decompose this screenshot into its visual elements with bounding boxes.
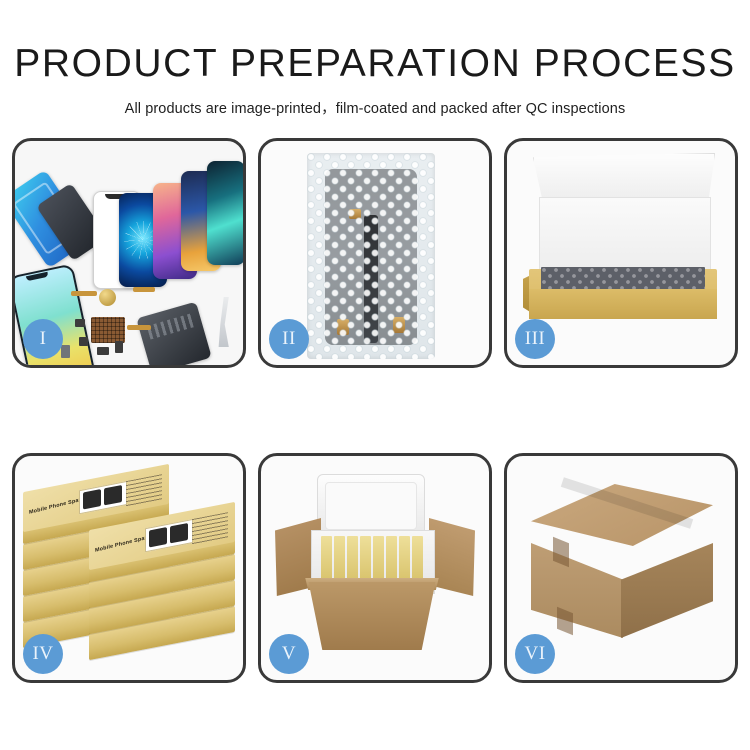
styrofoam-lid	[317, 474, 425, 538]
box-label-product-image	[79, 481, 127, 514]
page-subtitle: All products are image-printed，film-coat…	[0, 83, 750, 118]
packed-box	[360, 536, 371, 580]
foam-sheet	[539, 197, 711, 275]
process-step-5: V	[258, 453, 492, 683]
kraft-box-front	[529, 289, 717, 319]
carton-right-face	[621, 530, 713, 638]
page-title: PRODUCT PREPARATION PROCESS	[0, 0, 750, 83]
step-badge-3: III	[515, 319, 555, 359]
bubble-texture	[307, 153, 435, 359]
process-step-6: VI	[504, 453, 738, 683]
box-label-spec-list	[192, 512, 228, 545]
small-part	[97, 347, 109, 355]
carton-body	[303, 582, 441, 650]
step-badge-6: VI	[515, 634, 555, 674]
packed-box	[386, 536, 397, 580]
process-step-1: I	[12, 138, 246, 368]
small-part	[79, 337, 88, 346]
small-part	[115, 341, 123, 353]
box-label-spec-list	[126, 474, 162, 507]
flex-cable-part	[71, 291, 97, 296]
packed-boxes-row	[321, 536, 423, 580]
flex-cable-part	[133, 287, 155, 292]
process-step-3: III	[504, 138, 738, 368]
step-badge-5: V	[269, 634, 309, 674]
packed-box	[373, 536, 384, 580]
process-step-2: II	[258, 138, 492, 368]
process-step-4: Mobile Phone Spare Parts Mobile Phone Sp…	[12, 453, 246, 683]
packed-box	[334, 536, 345, 580]
box-label-product-image	[145, 519, 193, 552]
bubble-wrap-bag	[307, 153, 435, 359]
step-badge-4: IV	[23, 634, 63, 674]
flex-cable-part	[127, 325, 151, 330]
circuit-board-part	[91, 317, 125, 343]
green-display-phone	[207, 161, 243, 265]
carton-top-face	[531, 484, 713, 546]
packed-box	[347, 536, 358, 580]
step-badge-2: II	[269, 319, 309, 359]
tweezers-icon	[205, 297, 239, 347]
small-part	[61, 345, 70, 358]
packed-box	[399, 536, 410, 580]
gold-chip-icon	[99, 289, 116, 306]
small-part	[75, 319, 85, 327]
phone-back-housing	[136, 302, 212, 365]
packed-box	[412, 536, 423, 580]
process-step-grid: I II	[12, 138, 738, 678]
header: PRODUCT PREPARATION PROCESS All products…	[0, 0, 750, 118]
product-preparation-infographic: PRODUCT PREPARATION PROCESS All products…	[0, 0, 750, 750]
packed-box	[321, 536, 332, 580]
step-badge-1: I	[23, 319, 63, 359]
carton-left-face	[531, 530, 623, 638]
